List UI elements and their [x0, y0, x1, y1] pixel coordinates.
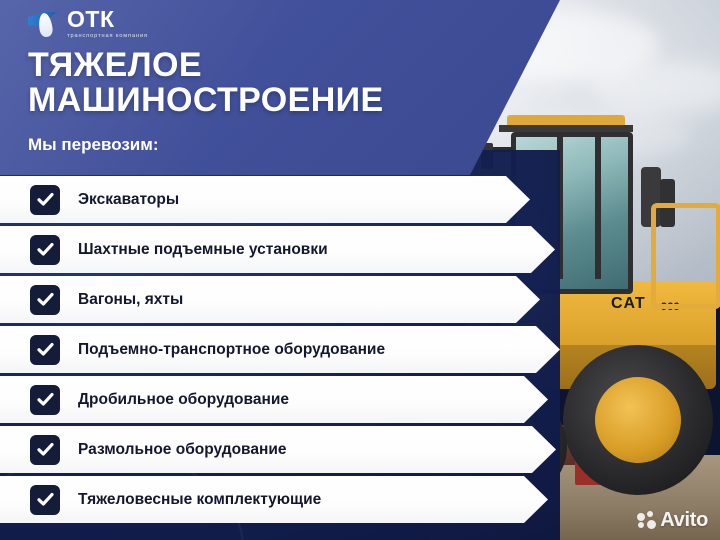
list-item-banner: Вагоны, яхты	[0, 276, 540, 323]
checkmark-icon[interactable]	[30, 385, 60, 415]
list-item-banner: Размольное оборудование	[0, 426, 556, 473]
list-item-label: Шахтные подъемные установки	[78, 242, 328, 258]
list-item[interactable]: Размольное оборудование	[0, 426, 720, 473]
checkmark-icon[interactable]	[30, 485, 60, 515]
list-item-label: Размольное оборудование	[78, 442, 287, 458]
list-item[interactable]: Тяжеловесные комплектующие	[0, 476, 720, 523]
subtitle: Мы перевозим:	[28, 136, 159, 153]
cab-roof-trim	[499, 125, 633, 132]
list-item[interactable]: Вагоны, яхты	[0, 276, 720, 323]
avito-wordmark: Avito	[660, 510, 708, 530]
list-item[interactable]: Дробильное оборудование	[0, 376, 720, 423]
list-item-banner: Экскаваторы	[0, 176, 530, 223]
list-item-label: Подъемно-транспортное оборудование	[78, 342, 385, 358]
avito-dots-icon	[637, 511, 656, 530]
list-item[interactable]: Шахтные подъемные установки	[0, 226, 720, 273]
checkmark-icon[interactable]	[30, 335, 60, 365]
list-item[interactable]: Подъемно-транспортное оборудование	[0, 326, 720, 373]
headline-line-1: ТЯЖЕЛОЕ	[28, 48, 384, 83]
advertisement-banner: CAT 966	[0, 0, 720, 540]
list-item-label: Вагоны, яхты	[78, 292, 183, 308]
list-item-banner: Подъемно-транспортное оборудование	[0, 326, 560, 373]
checkmark-icon[interactable]	[30, 235, 60, 265]
services-list: ЭкскаваторыШахтные подъемные установкиВа…	[0, 176, 720, 526]
avito-watermark: Avito	[637, 510, 708, 530]
list-item-banner: Дробильное оборудование	[0, 376, 548, 423]
company-logo[interactable]: ОТК транспортная компания	[28, 8, 148, 40]
list-item-label: Дробильное оборудование	[78, 392, 289, 408]
list-item[interactable]: Экскаваторы	[0, 176, 720, 223]
logo-wordmark: ОТК	[67, 8, 148, 31]
checkmark-icon[interactable]	[30, 435, 60, 465]
checkmark-icon[interactable]	[30, 285, 60, 315]
logo-tagline: транспортная компания	[67, 34, 148, 40]
checkmark-icon[interactable]	[30, 185, 60, 215]
chevron-leaf-logo-icon	[28, 9, 62, 39]
list-item-banner: Тяжеловесные комплектующие	[0, 476, 548, 523]
list-item-label: Тяжеловесные комплектующие	[78, 492, 321, 508]
page-title: ТЯЖЕЛОЕ МАШИНОСТРОЕНИЕ	[28, 48, 384, 117]
list-item-label: Экскаваторы	[78, 192, 179, 208]
list-item-banner: Шахтные подъемные установки	[0, 226, 555, 273]
headline-line-2: МАШИНОСТРОЕНИЕ	[28, 83, 384, 118]
